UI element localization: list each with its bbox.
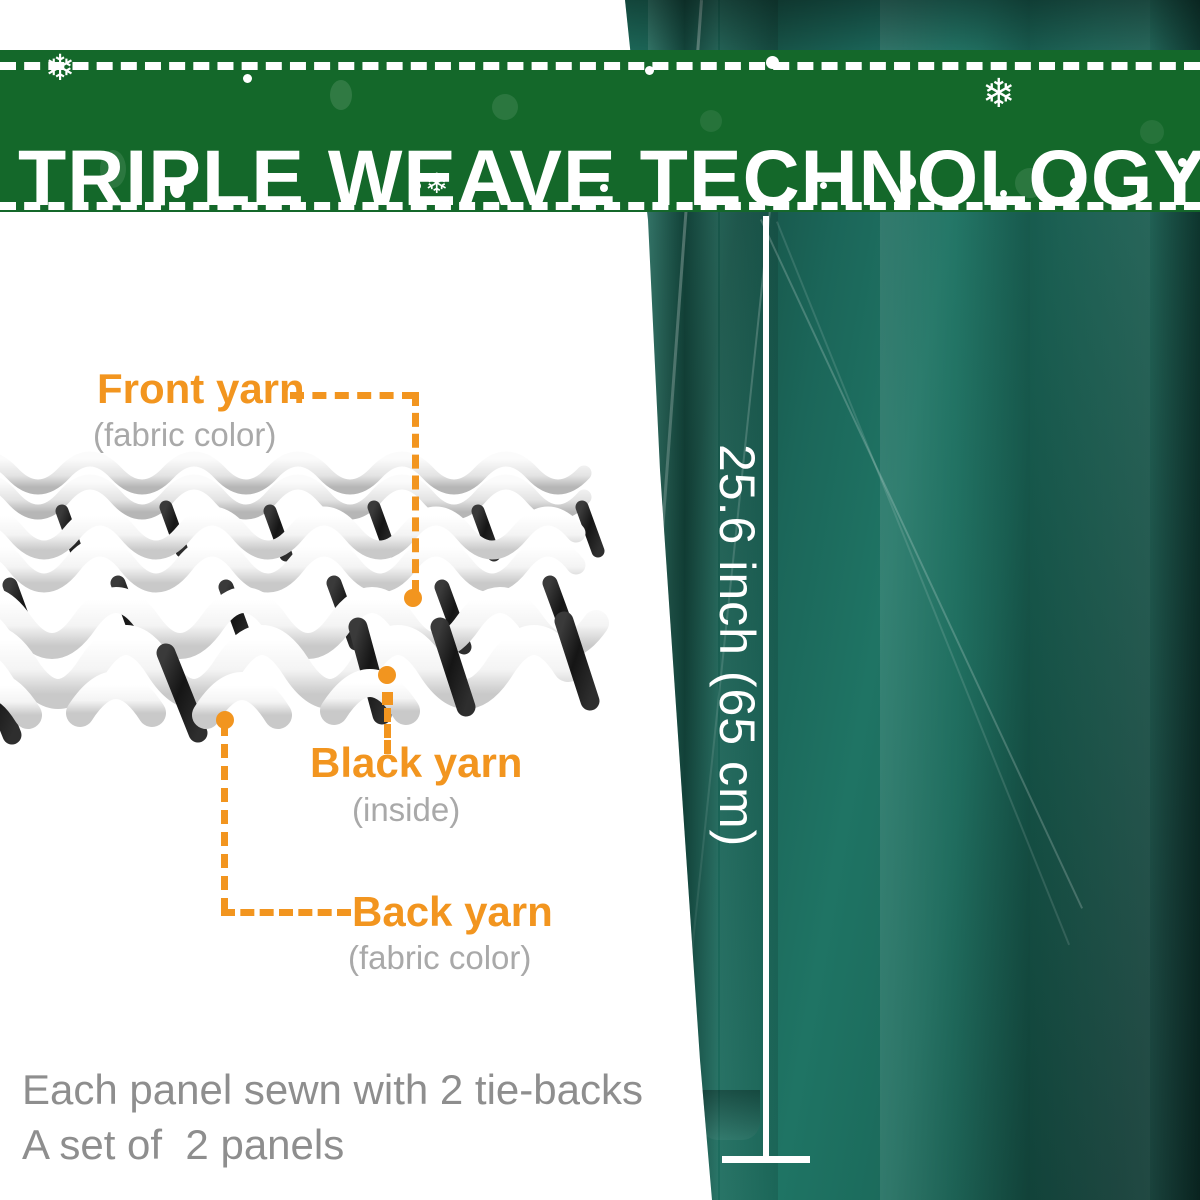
banner-dot — [492, 94, 518, 120]
label-black-yarn: Black yarn — [310, 742, 522, 784]
curtain-hem — [700, 1090, 760, 1140]
banner-dot — [700, 110, 722, 132]
label-back-yarn: Back yarn — [352, 891, 553, 933]
header-banner: ❄ ❄ ❄ TRIPLE WEAVE TECHNOLOGY — [0, 50, 1200, 212]
banner-dot — [645, 66, 654, 75]
label-front-yarn-sub: (fabric color) — [93, 418, 276, 451]
banner-dot — [330, 80, 352, 110]
product-infographic: Front yarn (fabric color) Black yarn (in… — [0, 0, 1200, 1200]
leader-line-front-yarn-vertical — [412, 392, 419, 594]
footnotes: Each panel sewn with 2 tie-backs A set o… — [22, 1062, 643, 1173]
curtain-top-shadow — [625, 0, 1200, 56]
snowflake-icon: ❄ — [45, 50, 75, 86]
label-front-yarn: Front yarn — [97, 368, 305, 410]
leader-line-back-yarn-vertical — [221, 722, 228, 912]
banner-top-dashed-border — [0, 62, 1200, 70]
footnote-line-1: Each panel sewn with 2 tie-backs — [22, 1062, 643, 1117]
measurement-end-cap — [722, 1156, 810, 1163]
measurement-label: 25.6 inch (65 cm) — [708, 444, 766, 847]
leader-dot-front-yarn — [404, 589, 422, 607]
banner-dot — [766, 56, 779, 69]
leader-line-back-yarn-horizontal — [221, 909, 351, 916]
snowflake-icon: ❄ — [982, 74, 1016, 114]
leader-line-front-yarn-horizontal — [290, 392, 416, 399]
triple-weave-illustration — [0, 415, 650, 765]
label-back-yarn-sub: (fabric color) — [348, 941, 531, 974]
banner-title: TRIPLE WEAVE TECHNOLOGY — [18, 138, 1200, 212]
label-black-yarn-sub: (inside) — [352, 793, 460, 826]
leader-dot-black-yarn — [378, 666, 396, 684]
banner-dot — [243, 74, 252, 83]
leader-square-black-yarn — [382, 692, 393, 705]
footnote-line-2: A set of 2 panels — [22, 1117, 643, 1172]
